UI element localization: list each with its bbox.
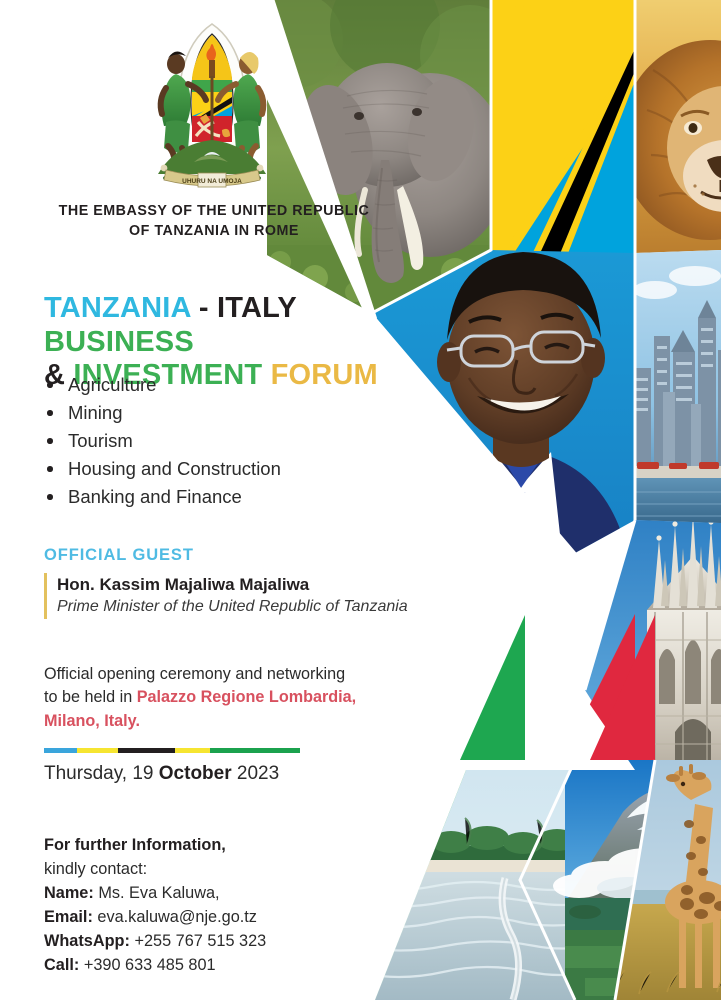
tanzania-flag-divider — [44, 748, 300, 753]
embassy-line-2: OF TANZANIA IN ROME — [10, 222, 418, 242]
list-item: Agriculture — [44, 371, 404, 399]
contact-value[interactable]: +390 633 485 801 — [84, 956, 216, 974]
embassy-heading: THE EMBASSY OF THE UNITED REPUBLIC OF TA… — [10, 202, 418, 241]
divider-segment-blue — [44, 748, 77, 753]
sector-label: Housing and Construction — [68, 458, 281, 479]
dar-es-salaam-skyline-photo — [625, 245, 721, 536]
contact-value: Ms. Eva Kaluwa, — [98, 884, 219, 902]
contact-label: Call — [44, 956, 74, 974]
divider-segment-green — [210, 748, 300, 753]
sectors-list: Agriculture Mining Tourism Housing and C… — [44, 371, 404, 512]
title-tanzania: TANZANIA — [44, 292, 191, 324]
contact-row-call[interactable]: Call: +390 633 485 801 — [44, 954, 374, 978]
contact-separator: : — [125, 932, 135, 950]
list-item: Mining — [44, 399, 404, 427]
venue-place-2: Milano, Italy. — [44, 712, 140, 730]
contact-row-whatsapp[interactable]: WhatsApp: +255 767 515 323 — [44, 930, 374, 954]
title-line-1: TANZANIA - ITALY BUSINESS — [44, 292, 444, 359]
contact-label: WhatsApp — [44, 932, 125, 950]
divider-segment-yellow-1 — [77, 748, 118, 753]
contact-separator: : — [87, 908, 97, 926]
guest-role: Prime Minister of the United Republic of… — [57, 596, 434, 618]
contact-row-name: Name: Ms. Eva Kaluwa, — [44, 882, 374, 906]
venue-place-1: Palazzo Regione Lombardia, — [137, 688, 356, 706]
contact-separator: : — [88, 884, 98, 902]
contact-subheading: kindly contact: — [44, 858, 374, 882]
contact-value[interactable]: +255 767 515 323 — [134, 932, 266, 950]
contact-label: Email — [44, 908, 87, 926]
contact-value[interactable]: eva.kaluwa@nje.go.tz — [97, 908, 257, 926]
list-item: Tourism — [44, 427, 404, 455]
sector-label: Tourism — [68, 430, 133, 451]
contact-heading: For further Information, — [44, 834, 374, 858]
venue-lead-1: Official opening ceremony and networking — [44, 665, 345, 683]
venue-lead-2: to be held in — [44, 688, 137, 706]
sector-label: Banking and Finance — [68, 486, 242, 507]
contact-separator: : — [74, 956, 84, 974]
official-guest-block: Hon. Kassim Majaliwa Majaliwa Prime Mini… — [44, 573, 434, 619]
contact-row-email[interactable]: Email: eva.kaluwa@nje.go.tz — [44, 906, 374, 930]
list-item: Banking and Finance — [44, 483, 404, 511]
title-italy: ITALY — [217, 292, 296, 324]
divider-segment-black — [118, 748, 174, 753]
event-date: Thursday, 19 October 2023 — [44, 760, 279, 789]
date-year: 2023 — [232, 763, 280, 784]
list-item: Housing and Construction — [44, 455, 404, 483]
poster-canvas: UHURU NA UMOJA THE EMBASSY OF THE UNITED… — [0, 0, 721, 1000]
venue-paragraph: Official opening ceremony and networking… — [44, 663, 419, 733]
emblem-motto: UHURU NA UMOJA — [182, 178, 242, 185]
title-business: BUSINESS — [44, 326, 194, 358]
embassy-line-1: THE EMBASSY OF THE UNITED REPUBLIC — [10, 202, 418, 222]
official-guest-label: OFFICIAL GUEST — [44, 546, 194, 565]
sector-label: Agriculture — [68, 374, 156, 395]
sector-label: Mining — [68, 402, 123, 423]
date-weekday: Thursday, — [44, 763, 132, 784]
guest-name: Hon. Kassim Majaliwa Majaliwa — [57, 573, 434, 596]
date-day: 19 — [132, 763, 158, 784]
divider-segment-yellow-2 — [175, 748, 211, 753]
tanzania-coat-of-arms: UHURU NA UMOJA — [142, 18, 282, 190]
date-month: October — [159, 763, 232, 784]
contact-label: Name — [44, 884, 88, 902]
title-dash: - — [191, 292, 217, 324]
contact-block: For further Information, kindly contact:… — [44, 834, 374, 978]
